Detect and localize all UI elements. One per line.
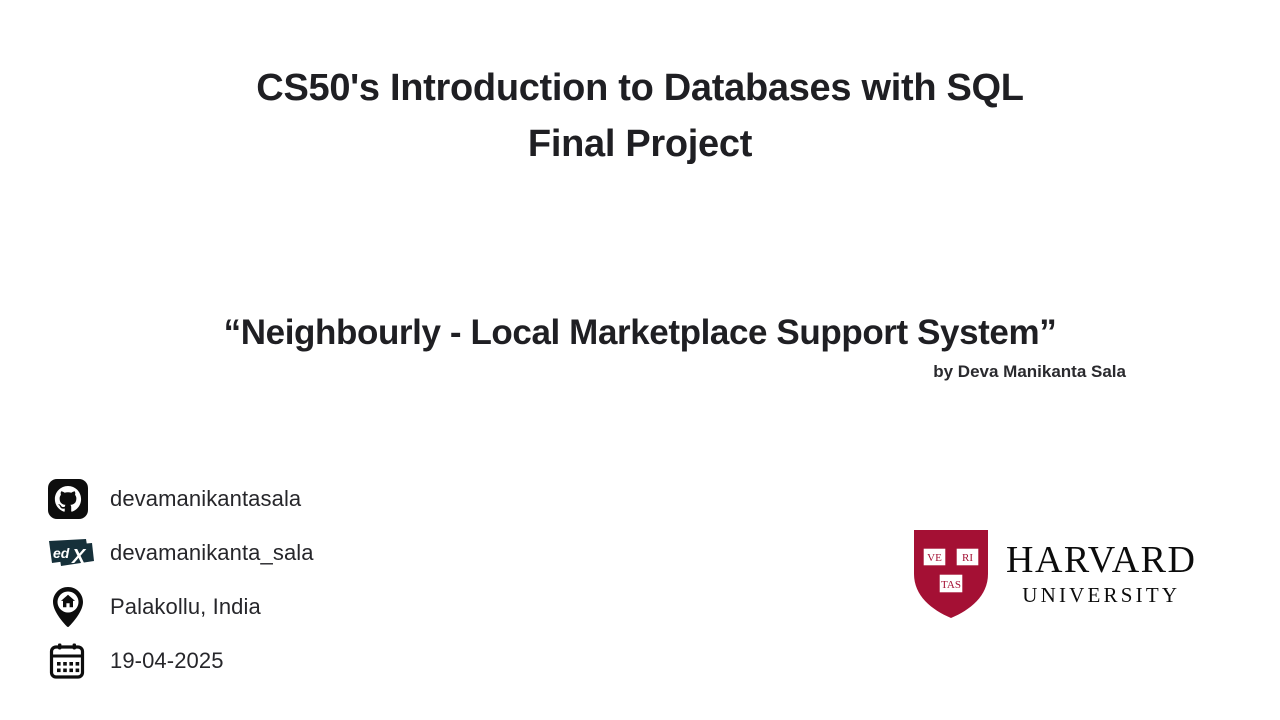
contact-row-date[interactable]: 19-04-2025 bbox=[48, 634, 314, 688]
edx-icon: ed X bbox=[48, 538, 94, 568]
contact-label-github: devamanikantasala bbox=[110, 486, 301, 512]
course-heading-line-2: Final Project bbox=[0, 116, 1280, 172]
project-title-block: “Neighbourly - Local Marketplace Support… bbox=[140, 308, 1140, 382]
svg-text:ed: ed bbox=[53, 545, 70, 561]
svg-text:RI: RI bbox=[962, 552, 973, 564]
svg-text:X: X bbox=[71, 546, 87, 568]
contact-label-date: 19-04-2025 bbox=[110, 648, 224, 674]
contact-label-location: Palakollu, India bbox=[110, 594, 261, 620]
github-icon bbox=[48, 479, 94, 519]
harvard-name: HARVARD bbox=[1006, 540, 1196, 580]
course-heading: CS50's Introduction to Databases with SQ… bbox=[0, 60, 1280, 172]
calendar-icon bbox=[48, 642, 94, 680]
contact-list: devamanikantasala ed X devamanikanta_sal… bbox=[48, 472, 314, 688]
harvard-subtitle: UNIVERSITY bbox=[1006, 582, 1196, 608]
harvard-wordmark: HARVARD UNIVERSITY bbox=[1006, 540, 1196, 608]
course-heading-line-1: CS50's Introduction to Databases with SQ… bbox=[0, 60, 1280, 116]
contact-label-edx: devamanikanta_sala bbox=[110, 540, 314, 566]
harvard-shield-icon: VE RI TAS bbox=[912, 528, 990, 620]
project-author: by Deva Manikanta Sala bbox=[140, 362, 1140, 382]
svg-text:VE: VE bbox=[927, 552, 942, 564]
svg-text:TAS: TAS bbox=[941, 579, 961, 591]
location-pin-home-icon bbox=[48, 586, 94, 628]
contact-row-location[interactable]: Palakollu, India bbox=[48, 580, 314, 634]
project-title: “Neighbourly - Local Marketplace Support… bbox=[140, 308, 1140, 358]
harvard-logo: VE RI TAS HARVARD UNIVERSITY bbox=[912, 528, 1196, 620]
contact-row-github[interactable]: devamanikantasala bbox=[48, 472, 314, 526]
contact-row-edx[interactable]: ed X devamanikanta_sala bbox=[48, 526, 314, 580]
